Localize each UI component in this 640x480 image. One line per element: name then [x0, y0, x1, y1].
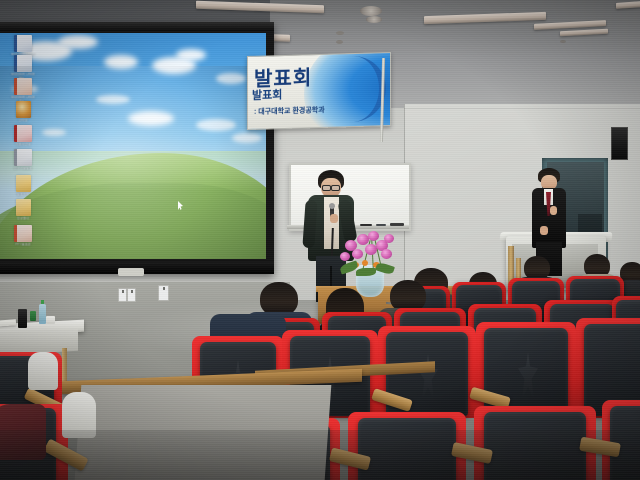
presenter — [300, 170, 362, 300]
pdf-icon — [14, 125, 32, 142]
cloud — [196, 119, 236, 131]
whiteboard-marker[interactable] — [376, 224, 386, 226]
internet-explorer-icon — [16, 101, 31, 118]
whiteboard-eraser[interactable] — [390, 223, 404, 226]
cloud — [42, 129, 66, 136]
banner-organizer: : 대구대학교 환경공학과 — [254, 105, 325, 117]
cloud — [128, 111, 174, 126]
cloud — [58, 35, 98, 49]
ceiling-sensor — [336, 31, 344, 35]
ceiling-sensor — [560, 40, 566, 43]
ceiling-sensor — [336, 40, 343, 44]
document-icon — [14, 149, 32, 166]
presenter-hand — [330, 214, 338, 223]
green-can — [30, 311, 36, 321]
powerpoint-icon — [14, 225, 32, 242]
desktop-icon[interactable]: 사용자안내 — [8, 125, 38, 147]
wall-speaker-icon — [611, 127, 628, 160]
desktop-icon[interactable]: Microsoft Office Po... — [8, 78, 38, 103]
desktop-icon-label: PPT발표본 — [8, 243, 38, 247]
black-cup — [18, 309, 27, 328]
word-document-icon — [14, 55, 32, 72]
desktop-icon[interactable]: PPT발표본 — [8, 225, 38, 247]
side-table-leg — [62, 348, 67, 382]
staff-hand — [550, 206, 557, 215]
cloud — [232, 133, 262, 143]
cloud — [216, 73, 246, 84]
ceiling-vent — [366, 16, 382, 23]
audience-head — [260, 282, 298, 316]
desktop-icon[interactable]: 신규폴더 — [8, 199, 38, 221]
ceiling-vent — [360, 6, 382, 16]
cloud — [96, 95, 130, 104]
desktop-icon[interactable]: 인터넷 — [8, 101, 38, 123]
orchid-bloom — [368, 231, 379, 241]
desktop-icon[interactable]: Microsoft Office Wo... — [8, 55, 38, 80]
foreground-shadow — [0, 430, 640, 480]
desktop-icon-label: 연구기술발표 — [8, 167, 38, 171]
projected-desktop: Microsoft Office Wo... Microsoft Office … — [0, 33, 266, 259]
desktop-icon-label: 인터넷 — [8, 119, 38, 123]
cloud — [176, 49, 206, 61]
foliage — [356, 268, 376, 276]
powerpoint-icon — [14, 78, 32, 95]
banner-subtitle: 발표회 — [252, 86, 282, 103]
orchid-bloom — [381, 249, 392, 259]
desktop-icon[interactable]: 연구기술발표 — [8, 149, 38, 171]
orchid-bloom — [352, 249, 363, 259]
accent-flower — [362, 260, 368, 266]
glasses-icon — [322, 185, 340, 189]
orchid-bloom — [384, 234, 394, 243]
desktop-icon-label: 발표자료 — [8, 193, 38, 197]
desktop-icon-label: 신규폴더 — [8, 217, 38, 221]
cloud — [104, 55, 138, 69]
projection-screen-pull-knob[interactable] — [118, 268, 144, 276]
orchid-bloom — [340, 252, 350, 261]
audience-body — [28, 352, 58, 390]
folder-icon — [16, 199, 31, 216]
water-bottle — [39, 304, 46, 324]
projection-screen-roller — [0, 22, 274, 31]
hill-haze — [0, 151, 266, 191]
folder-icon — [16, 175, 31, 192]
word-document-icon — [14, 35, 32, 52]
wall-outlet — [118, 288, 127, 302]
auditorium-photo: Microsoft Office Wo... Microsoft Office … — [0, 0, 640, 480]
event-banner: 발표회 발표회 : 대구대학교 환경공학과 — [247, 52, 391, 130]
desktop-icon-label: 사용자안내 — [8, 143, 38, 147]
staff-hand — [540, 226, 548, 235]
wall-seam — [404, 108, 640, 109]
desktop-icon[interactable]: 발표자료 — [8, 175, 38, 197]
wall-outlet — [127, 288, 136, 302]
wall-switch — [158, 285, 169, 301]
paper-cup — [46, 316, 55, 324]
